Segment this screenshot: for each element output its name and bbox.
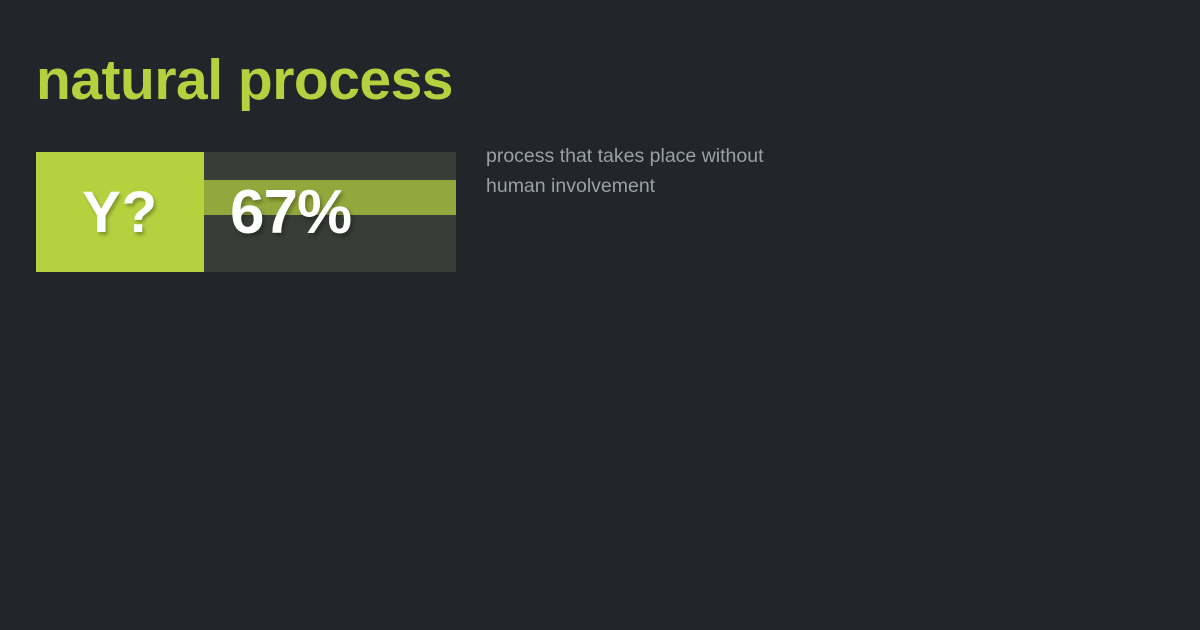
definition-text: process that takes place without human i… [486,141,816,201]
word-card: natural process Y? 67% process that take… [0,0,1200,630]
page-title: natural process [36,52,453,109]
score-meter: Y? 67% [36,152,456,272]
meter-value-label: 67% [204,152,351,272]
meter-badge-label: Y? [36,152,204,272]
